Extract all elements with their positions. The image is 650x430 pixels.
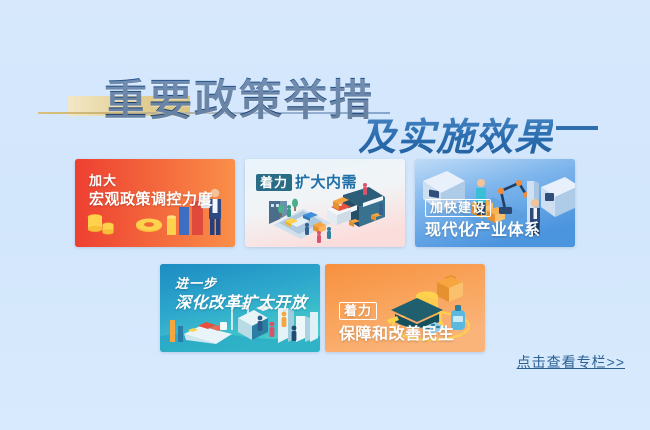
card-expand-demand-line2: 扩大内需 [295,174,357,192]
card-macro-policy-line2: 宏观政策调控力度 [89,191,213,209]
card-expand-demand[interactable]: 着力 扩大内需 [245,159,405,247]
card-reform-opening[interactable]: 进一步 深化改革扩大开放 [160,264,320,352]
card-modern-industry[interactable]: 加快建设 现代化产业体系 [415,159,575,247]
card-modern-industry-line1: 加快建设 [425,199,491,217]
view-column-link[interactable]: 点击查看专栏>> [517,352,625,372]
card-reform-opening-line1: 进一步 [175,276,307,291]
card-reform-opening-line2: 深化改革扩大开放 [175,295,307,314]
card-modern-industry-line2: 现代化产业体系 [425,222,541,241]
card-macro-policy-text: 加大 宏观政策调控力度 [89,173,213,209]
isometric-city-commerce-illustration [245,159,405,247]
card-peoples-livelihood-line1: 着力 [339,302,377,320]
card-peoples-livelihood-text: 着力 保障和改善民生 [339,302,455,345]
card-peoples-livelihood-line2: 保障和改善民生 [339,326,455,345]
card-reform-opening-text: 进一步 深化改革扩大开放 [175,276,307,314]
card-modern-industry-text: 加快建设 现代化产业体系 [425,199,541,241]
card-peoples-livelihood[interactable]: 着力 保障和改善民生 [325,264,485,352]
card-macro-policy[interactable]: 加大 宏观政策调控力度 [75,159,235,247]
card-expand-demand-text: 着力 扩大内需 [256,174,357,192]
card-macro-policy-line1: 加大 [89,173,213,188]
card-expand-demand-line1: 着力 [256,174,292,191]
